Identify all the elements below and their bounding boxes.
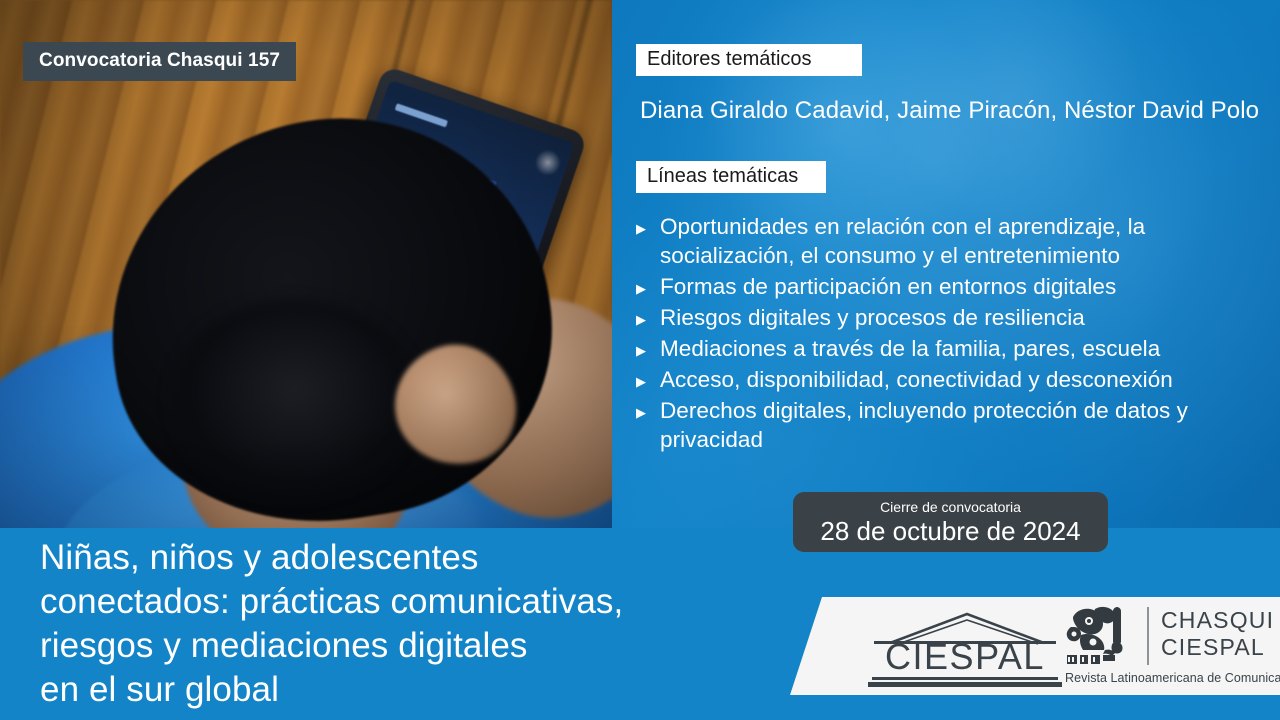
triangle-bullet-icon: ▶	[636, 222, 660, 235]
triangle-bullet-icon: ▶	[636, 313, 660, 326]
list-item-label: Riesgos digitales y procesos de resilien…	[660, 303, 1085, 332]
chasqui-wordmark: CHASQUI CIESPAL	[1161, 607, 1274, 661]
title-line-2: conectados: prácticas comunicativas,	[40, 580, 800, 624]
list-item: ▶ Acceso, disponibilidad, conectividad y…	[636, 365, 1250, 394]
list-item-label: Mediaciones a través de la familia, pare…	[660, 334, 1160, 363]
editors-names: Diana Giraldo Cadavid, Jaime Piracón, Né…	[640, 97, 1280, 125]
chasqui-glyph-icon	[1065, 605, 1135, 667]
triangle-bullet-icon: ▶	[636, 344, 660, 357]
page-title: Niñas, niños y adolescentes conectados: …	[40, 536, 800, 712]
ciespal-logo: CIESPAL	[870, 609, 1060, 683]
deadline-pill: Cierre de convocatoria 28 de octubre de …	[793, 492, 1108, 552]
list-item-label: Formas de participación en entornos digi…	[660, 272, 1116, 301]
deadline-date: 28 de octubre de 2024	[820, 516, 1080, 546]
list-item: ▶ Derechos digitales, incluyendo protecc…	[636, 396, 1250, 454]
logo-divider	[1147, 607, 1149, 665]
convocatoria-badge: Convocatoria Chasqui 157	[23, 42, 296, 81]
list-item: ▶ Oportunidades en relación con el apren…	[636, 212, 1250, 270]
list-item: ▶ Mediaciones a través de la familia, pa…	[636, 334, 1250, 363]
logo-panel: CIESPAL	[770, 597, 1280, 695]
list-item-label: Acceso, disponibilidad, conectividad y d…	[660, 365, 1173, 394]
deadline-caption: Cierre de convocatoria	[880, 499, 1021, 515]
chasqui-word-line-1: CHASQUI	[1161, 607, 1274, 634]
list-item: ▶ Formas de participación en entornos di…	[636, 272, 1250, 301]
journal-tagline: Revista Latinoamericana de Comunicación	[1065, 671, 1277, 685]
triangle-bullet-icon: ▶	[636, 282, 660, 295]
poster-root: Convocatoria Chasqui 157 Editores temáti…	[0, 0, 1280, 720]
chasqui-logo: CHASQUI CIESPAL Revista Latinoamericana …	[1065, 603, 1275, 691]
list-item: ▶ Riesgos digitales y procesos de resili…	[636, 303, 1250, 332]
title-line-3: riesgos y mediaciones digitales	[40, 624, 800, 668]
list-item-label: Derechos digitales, incluyendo protecció…	[660, 396, 1250, 454]
thematic-lines-label: Líneas temáticas	[636, 161, 826, 193]
triangle-bullet-icon: ▶	[636, 375, 660, 388]
editors-section-label: Editores temáticos	[636, 44, 862, 76]
list-item-label: Oportunidades en relación con el aprendi…	[660, 212, 1250, 270]
ciespal-wordmark: CIESPAL	[870, 639, 1060, 675]
logo-rule-mid	[872, 677, 1058, 680]
title-line-4: en el sur global	[40, 668, 800, 712]
thematic-lines-list: ▶ Oportunidades en relación con el apren…	[636, 212, 1250, 456]
triangle-bullet-icon: ▶	[636, 406, 660, 419]
title-line-1: Niñas, niños y adolescentes	[40, 536, 800, 580]
logo-rule-bottom	[868, 682, 1062, 687]
chasqui-word-line-2: CIESPAL	[1161, 634, 1274, 661]
